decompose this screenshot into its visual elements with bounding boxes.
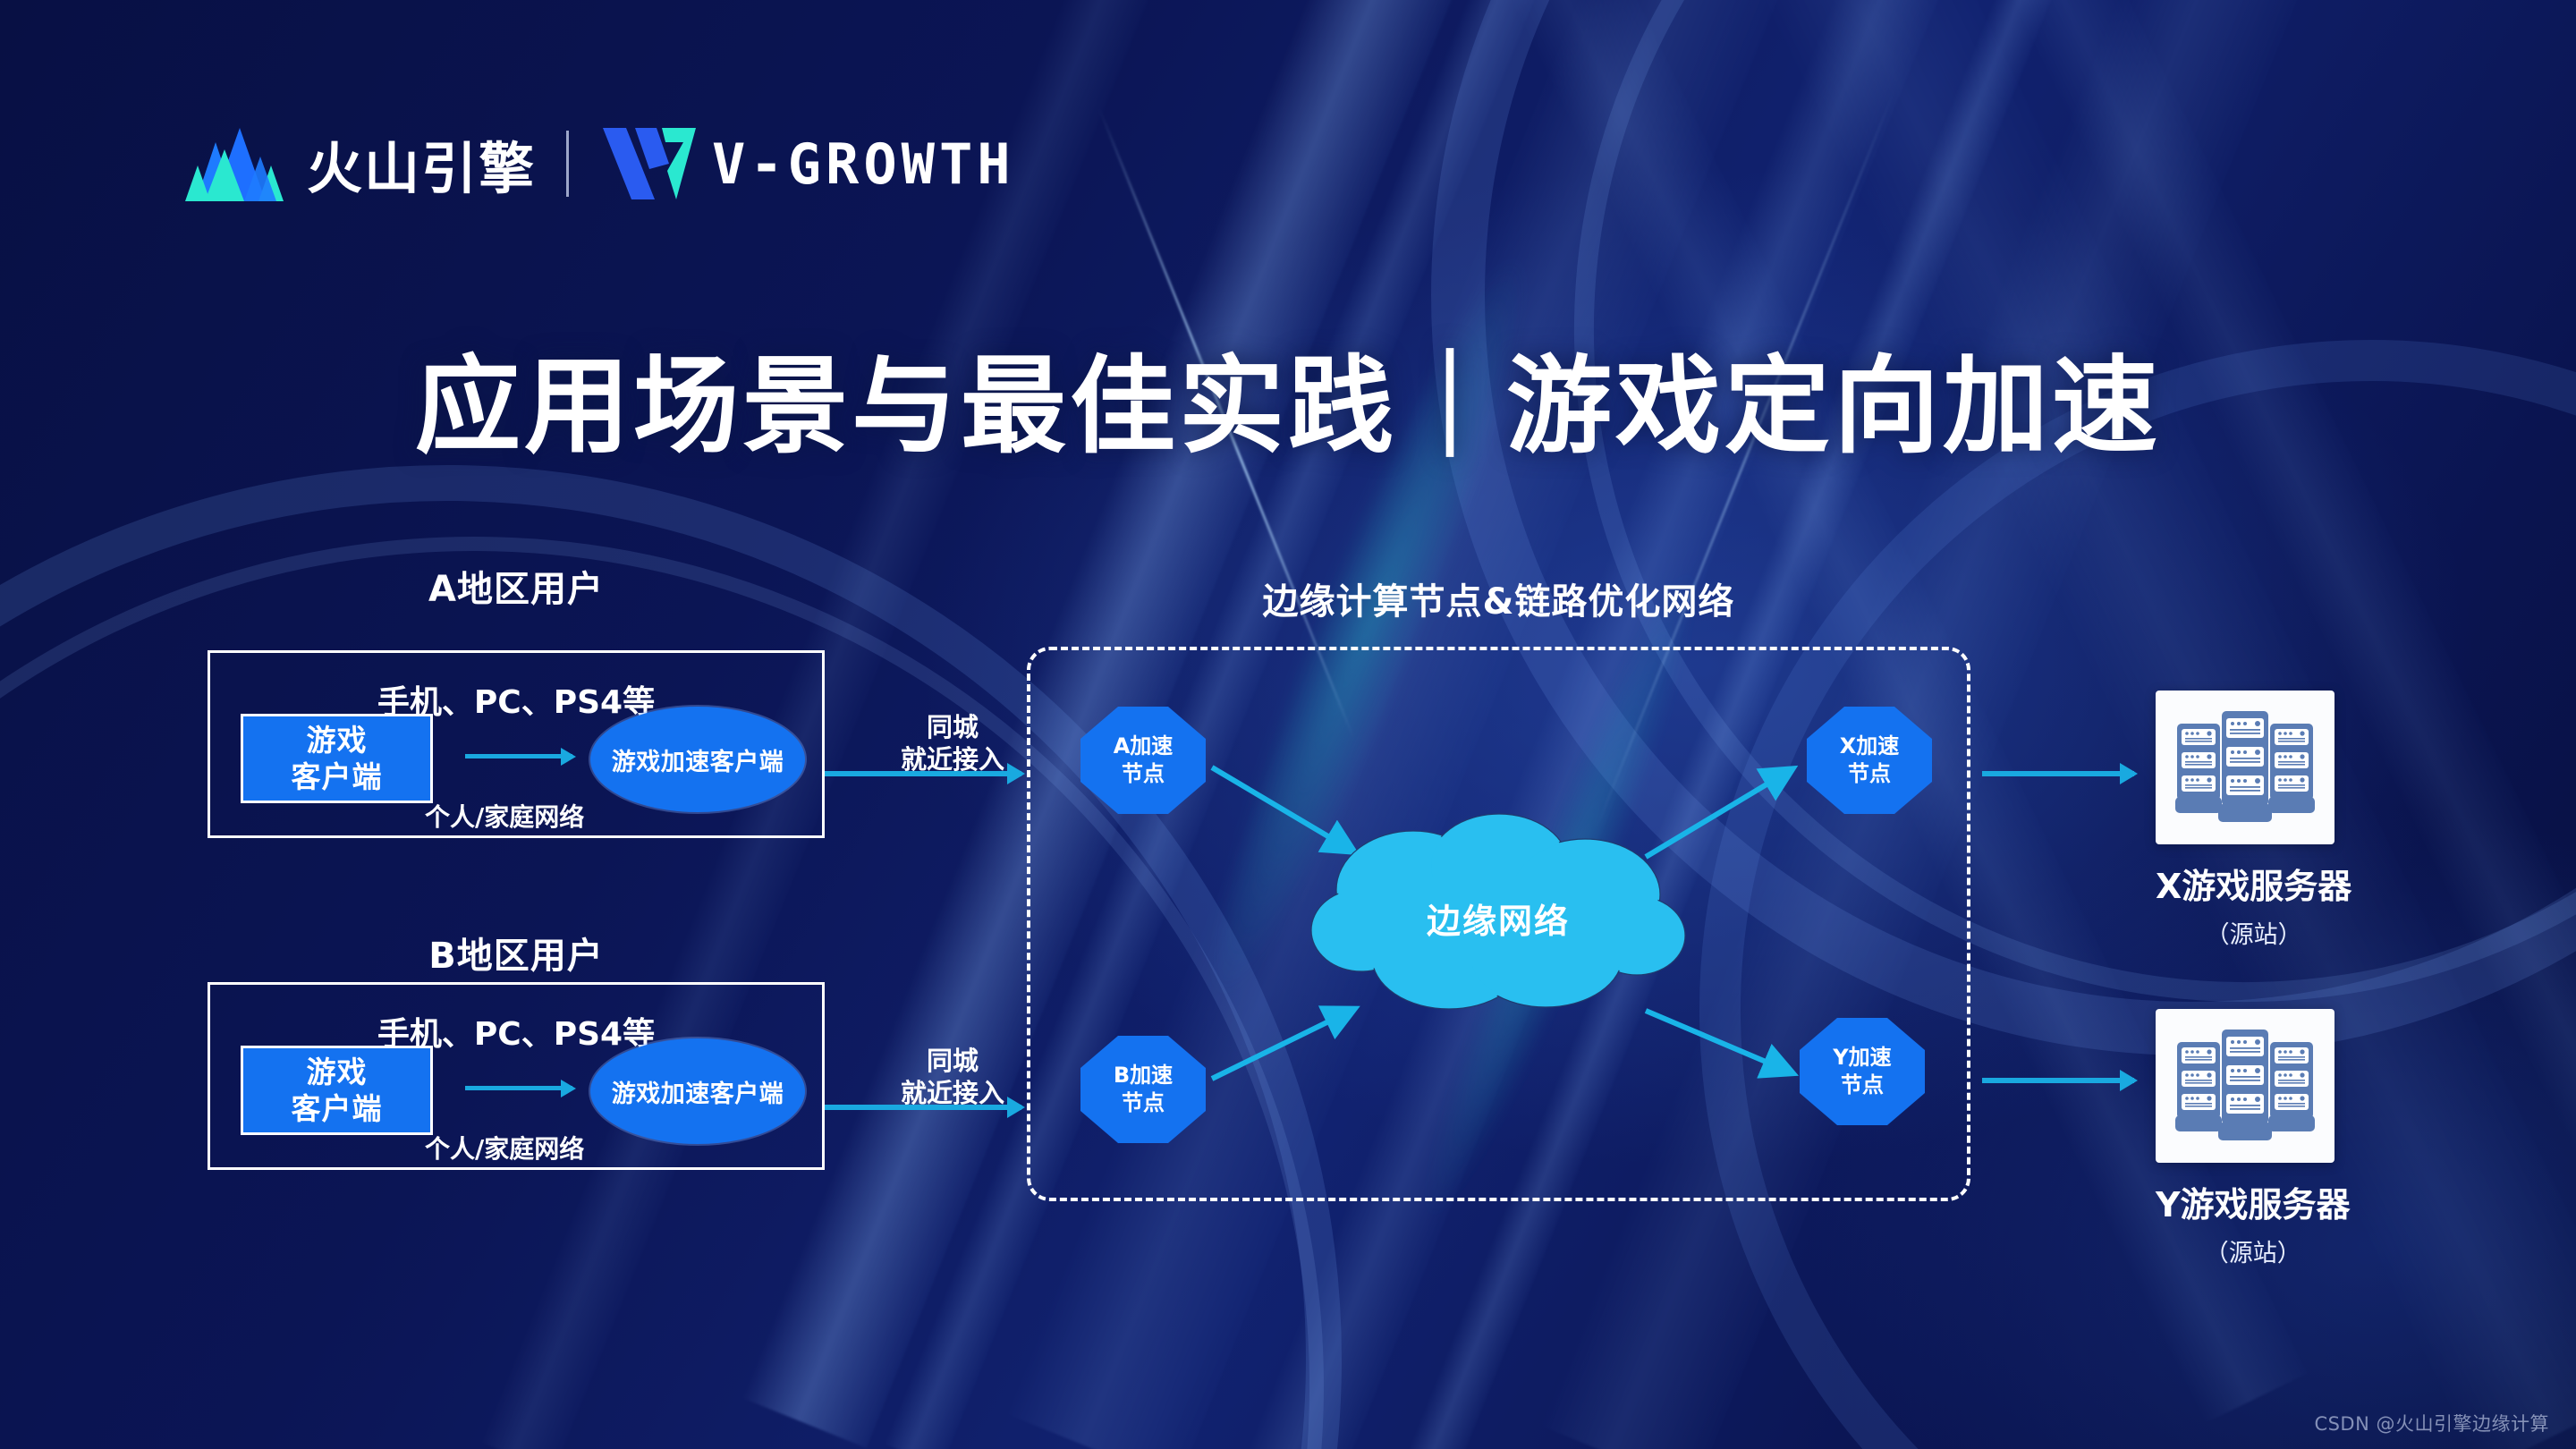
arrow-y-node-to-server (1982, 1078, 2134, 1083)
brand-name-cn: 火山引擎 (307, 123, 536, 204)
server-rack-card (2156, 1009, 2334, 1163)
region-a-uplink-arrow (825, 771, 1021, 776)
arrow-b-to-cloud (1212, 1011, 1351, 1079)
region-a-uplink-label: 同城 就近接入 (877, 711, 1029, 776)
region-b-game-client[interactable]: 游戏 客户端 (241, 1046, 433, 1135)
server-rack-card (2156, 691, 2334, 844)
watermark: CSDN @火山引擎边缘计算 (2314, 1410, 2549, 1436)
region-b-accel-client[interactable]: 游戏加速客户端 (590, 1038, 805, 1144)
region-b-uplink-label: 同城 就近接入 (877, 1045, 1029, 1110)
server-y[interactable]: Y游戏服务器 （源站） (2156, 1009, 2351, 1268)
region-a-game-client[interactable]: 游戏 客户端 (241, 714, 433, 803)
product-name: V-GROWTH (712, 131, 1015, 197)
game-client-line1: 游戏 (307, 1054, 368, 1090)
region-b-uplink-arrow (825, 1105, 1021, 1110)
region-b-inner-arrow (465, 1086, 572, 1090)
arrow-x-node-to-server (1982, 771, 2134, 776)
region-a-box: 手机、PC、PS4等 游戏 客户端 游戏加速客户端 个人/家庭网络 (208, 650, 825, 838)
arrow-cloud-to-y (1646, 1011, 1789, 1072)
region-a-uplink-line1: 同城 (877, 711, 1029, 743)
server-x[interactable]: X游戏服务器 （源站） (2156, 691, 2351, 950)
region-b-network-label: 个人/家庭网络 (425, 1130, 584, 1165)
server-x-sub: （源站） (2156, 915, 2351, 950)
server-rack-icon (2170, 1022, 2320, 1149)
region-a-caption: A地区用户 (208, 560, 825, 612)
region-a-accel-client[interactable]: 游戏加速客户端 (590, 707, 805, 812)
region-a-inner-arrow (465, 754, 572, 758)
slide-canvas: 火山引擎 V-GROWTH 应用场景与最佳实践｜游戏定向加速 A地区用户 手机、… (0, 0, 2576, 1449)
server-y-name: Y游戏服务器 (2156, 1177, 2351, 1226)
edge-network-caption: 边缘计算节点&链路优化网络 (1027, 572, 1970, 624)
logo-divider (566, 131, 569, 197)
server-y-sub: （源站） (2156, 1233, 2351, 1268)
region-b-caption: B地区用户 (208, 927, 825, 979)
game-client-line2: 客户端 (292, 1090, 383, 1127)
brand-logo: 火山引擎 V-GROWTH (183, 114, 1015, 213)
game-client-line2: 客户端 (292, 758, 383, 795)
game-client-line1: 游戏 (307, 722, 368, 758)
region-b-uplink-line1: 同城 (877, 1045, 1029, 1077)
server-x-name: X游戏服务器 (2156, 859, 2351, 908)
v-growth-mark-icon (599, 123, 699, 205)
cloud-label: 边缘网络 (1306, 805, 1690, 1020)
edge-network-cloud: 边缘网络 (1306, 805, 1690, 1020)
page-title: 应用场景与最佳实践｜游戏定向加速 (0, 320, 2576, 473)
server-rack-icon (2170, 704, 2320, 831)
region-b-box: 手机、PC、PS4等 游戏 客户端 游戏加速客户端 个人/家庭网络 (208, 982, 825, 1170)
mountain-logo-icon (183, 126, 289, 201)
region-a-network-label: 个人/家庭网络 (425, 798, 584, 834)
